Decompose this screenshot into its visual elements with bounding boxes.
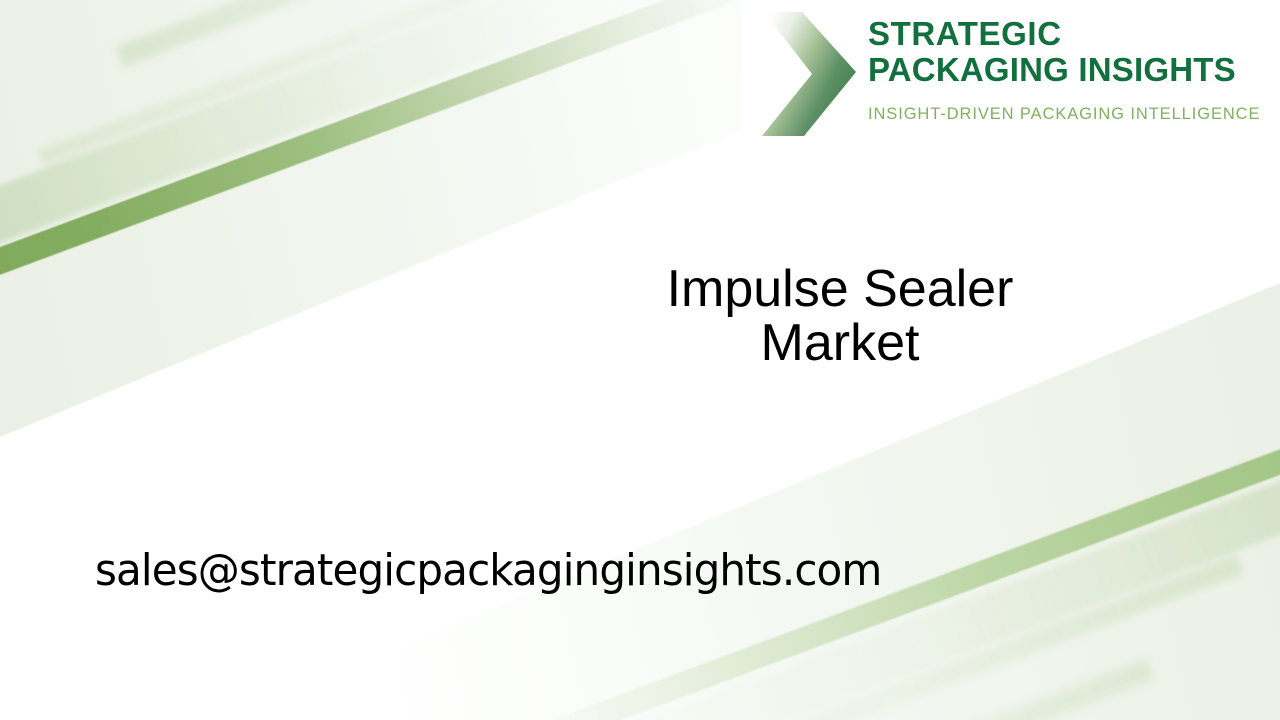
chevron-right-icon (760, 10, 860, 138)
page-title: Impulse Sealer Market (520, 262, 1160, 370)
contact-email[interactable]: sales@strategicpackaginginsights.com (95, 545, 881, 597)
ribbon-top-left-band-2 (37, 0, 791, 165)
ribbon-top-left-band-3 (116, 0, 815, 67)
logo-word-line-1: STRATEGIC (868, 16, 1260, 52)
logo-word-line-2: PACKAGING INSIGHTS (868, 52, 1260, 88)
ribbon-bottom-right-band-3 (493, 659, 1154, 720)
ribbon-top-left-band-1 (0, 0, 732, 284)
page-title-line-1: Impulse Sealer (667, 260, 1014, 318)
title-slide: STRATEGIC PACKAGING INSIGHTS INSIGHT-DRI… (0, 0, 1280, 720)
page-title-line-2: Market (761, 314, 920, 372)
company-logo: STRATEGIC PACKAGING INSIGHTS INSIGHT-DRI… (742, 0, 1262, 140)
logo-wordmark: STRATEGIC PACKAGING INSIGHTS INSIGHT-DRI… (868, 16, 1260, 124)
logo-tagline: INSIGHT-DRIVEN PACKAGING INTELLIGENCE (868, 105, 1260, 124)
